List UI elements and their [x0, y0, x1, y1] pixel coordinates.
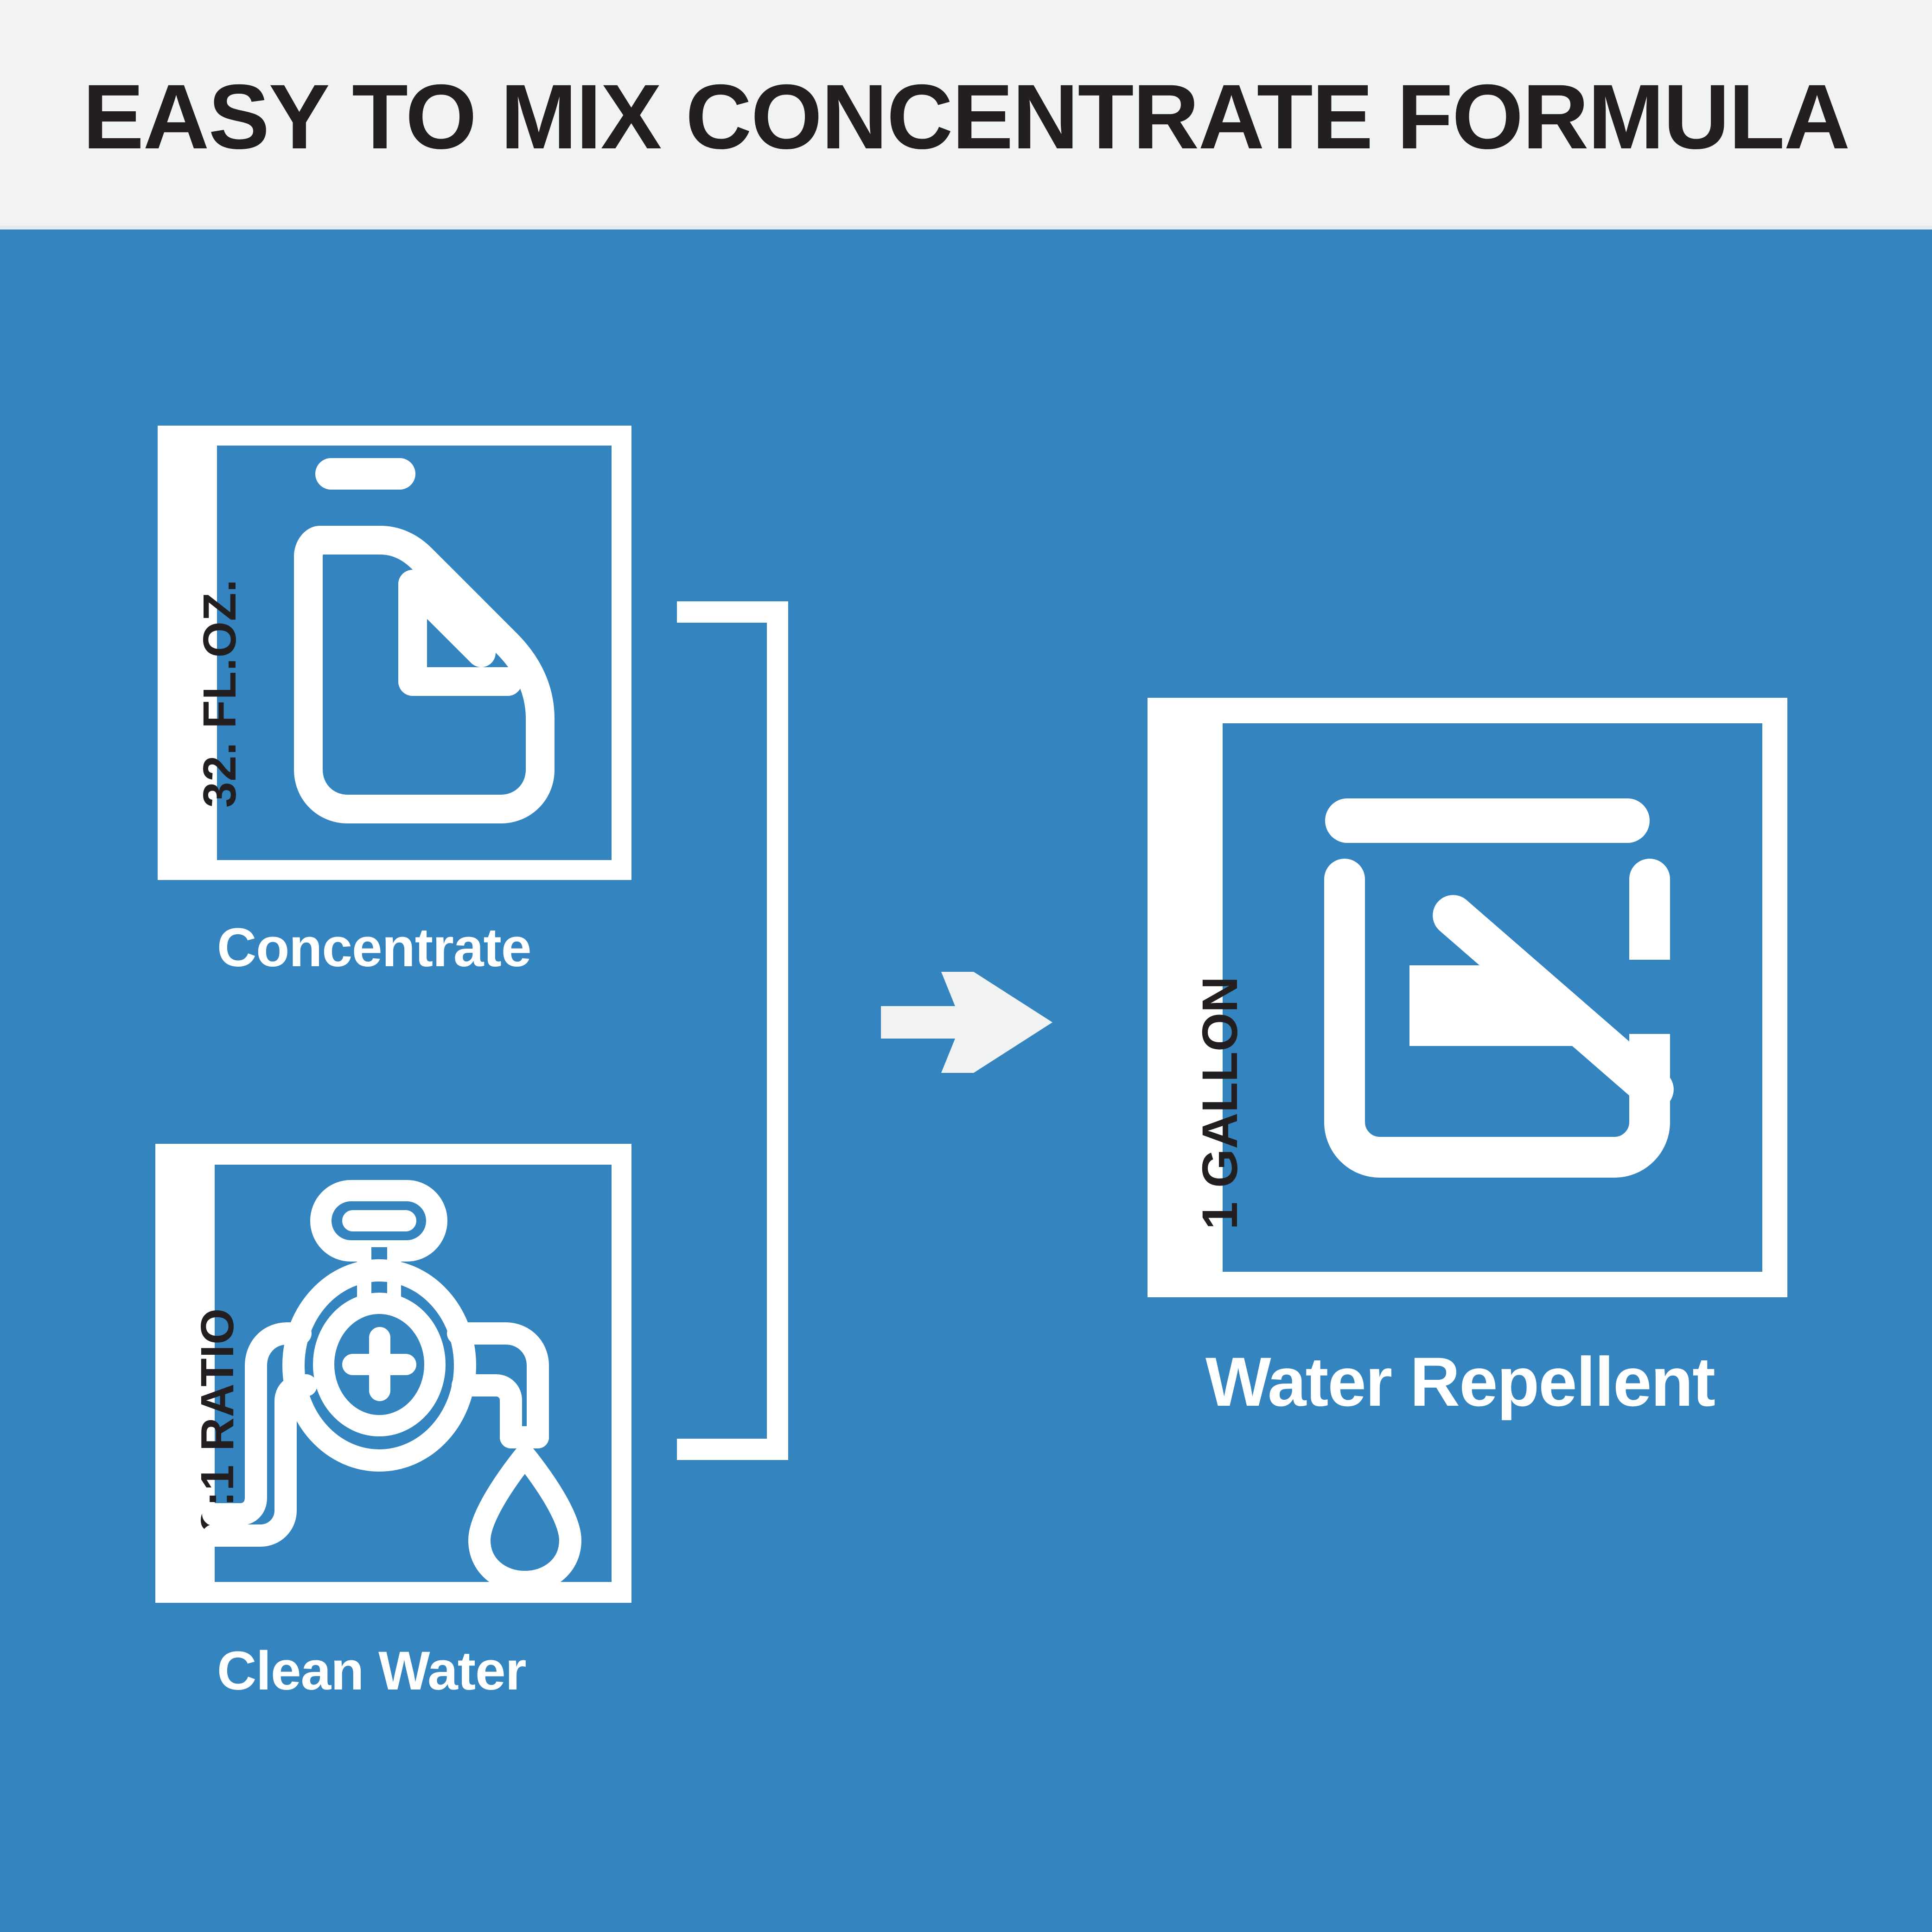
- concentrate-caption: Concentrate: [217, 920, 531, 975]
- bracket-spine: [767, 601, 788, 1460]
- infographic-canvas: EASY TO MIX CONCENTRATE FORMULA 32. FL.O…: [0, 0, 1932, 1932]
- clean-water-caption: Clean Water: [217, 1644, 526, 1698]
- page-title: EASY TO MIX CONCENTRATE FORMULA: [0, 70, 1932, 163]
- right-arrow-icon: [881, 964, 1052, 1080]
- header-divider: [0, 226, 1932, 230]
- water-repellent-caption: Water Repellent: [1205, 1347, 1715, 1416]
- concentrate-side-label: 32. FL.OZ.: [193, 579, 247, 808]
- jug-bottle-icon: [297, 445, 584, 835]
- faucet-icon: [218, 1178, 617, 1586]
- water-repellent-side-label: 1 GALLON: [1191, 976, 1249, 1230]
- bracket-bottom-arm: [677, 1439, 788, 1460]
- bucket-pail-icon: [1317, 788, 1715, 1205]
